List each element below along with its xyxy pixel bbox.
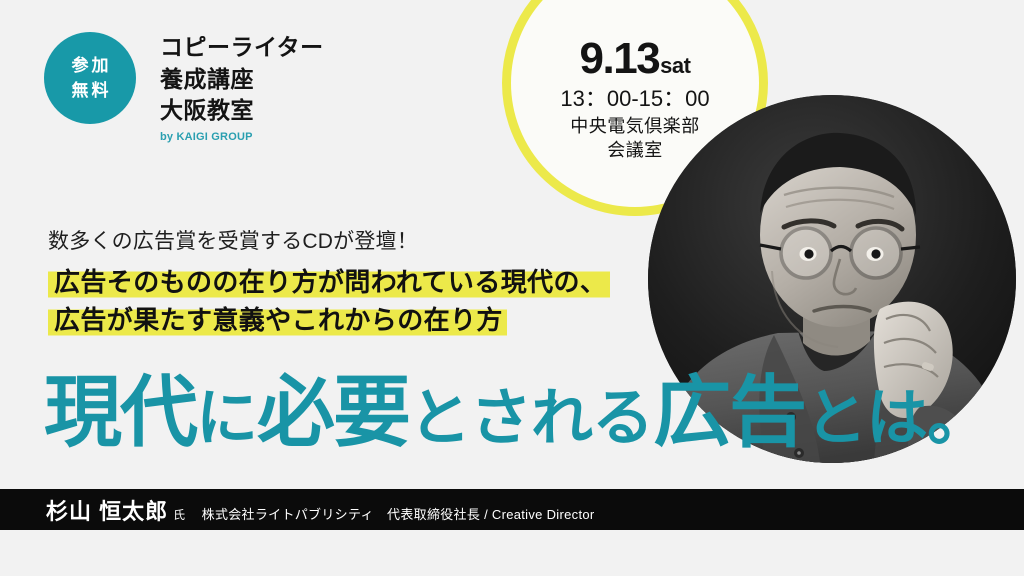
headline-part-2: に <box>196 384 257 453</box>
headline-part-5: 広告 <box>653 368 805 456</box>
headline-part-1: 現代 <box>44 368 196 456</box>
course-title-line-3: 大阪教室 <box>160 95 324 127</box>
event-venue-line1: 中央電気倶楽部 <box>570 114 700 138</box>
badge-line-2: 無料 <box>69 78 112 104</box>
speaker-role: 株式会社ライトパブリシティ 代表取締役社長 / Creative Directo… <box>202 504 595 523</box>
copy-block: 数多くの広告賞を受賞するCDが登壇！ 広告そのものの在り方が問われている現代の、… <box>48 228 610 337</box>
headline-part-6: とは。 <box>805 384 988 453</box>
event-venue: 中央電気倶楽部 会議室 <box>570 114 700 163</box>
course-title-line-1: コピーライター <box>160 32 324 64</box>
course-title-line-2: 養成講座 <box>160 64 324 96</box>
highlight-line-2: 広告が果たす意義やこれからの在り方 <box>48 305 507 337</box>
highlight-row-2: 広告が果たす意義やこれからの在り方 <box>48 305 610 337</box>
headline-part-3: 必要 <box>257 368 409 456</box>
organizer-credit: by KAIGI GROUP <box>160 131 324 143</box>
free-admission-badge: 参加 無料 <box>44 32 136 124</box>
event-venue-line2: 会議室 <box>570 138 700 162</box>
event-time: 13：00-15：00 <box>560 85 709 113</box>
speaker-name: 杉山 恒太郎 <box>46 494 168 526</box>
event-date-number: 9.13 <box>580 37 660 81</box>
main-headline: 現代に必要とされる広告とは。 <box>44 372 988 454</box>
badge-line-1: 参加 <box>69 53 112 79</box>
event-date-block: 9.13 sat 13：00-15：00 中央電気倶楽部 会議室 <box>502 0 768 216</box>
highlight-line-1: 広告そのものの在り方が問われている現代の、 <box>48 267 610 299</box>
speaker-honorific: 氏 <box>173 506 186 523</box>
poster-canvas: 9.13 sat 13：00-15：00 中央電気倶楽部 会議室 参加 無料 コ… <box>0 0 1024 576</box>
event-date: 9.13 sat <box>580 37 691 81</box>
speaker-info: 杉山 恒太郎 氏 株式会社ライトパブリシティ 代表取締役社長 / Creativ… <box>0 494 595 526</box>
highlight-row-1: 広告そのものの在り方が問われている現代の、 <box>48 267 610 299</box>
course-title-block: コピーライター 養成講座 大阪教室 by KAIGI GROUP <box>160 32 324 143</box>
headline-part-4: とされる <box>409 384 653 453</box>
event-day-of-week: sat <box>660 55 690 77</box>
speaker-bar: 杉山 恒太郎 氏 株式会社ライトパブリシティ 代表取締役社長 / Creativ… <box>0 489 1024 530</box>
lead-copy: 数多くの広告賞を受賞するCDが登壇！ <box>48 228 610 255</box>
